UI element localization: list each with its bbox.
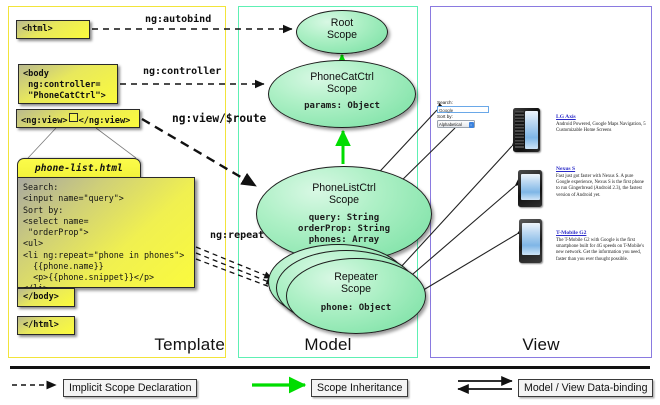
code-box-body-close: </body> (17, 288, 75, 307)
note-title: phone-list.html (17, 158, 141, 179)
ng-view-close-tag: </ng:view> (79, 116, 131, 126)
phone-link[interactable]: T-Mobile G2 (556, 229, 648, 237)
legend-label-scope-inheritance: Scope Inheritance (311, 379, 408, 397)
phone-image-t-mobile-g2 (519, 219, 542, 263)
code-box-ng-view: <ng:view></ng:view> (16, 109, 140, 128)
architecture-diagram: Template Model View (0, 0, 660, 405)
scope-repeater: Repeater Scope phone: Object (286, 258, 426, 334)
phone-keyboard (515, 111, 524, 149)
note-leader-right (96, 128, 136, 158)
list-item: T-Mobile G2 The T-Mobile G2 with Google … (556, 229, 648, 263)
code-box-html-close: </html> (17, 316, 75, 335)
phone-image-nexus-s (518, 170, 542, 207)
ng-view-placeholder-icon (69, 113, 78, 122)
scope-root-line2: Scope (297, 30, 387, 42)
code-box-html-open: <html> (16, 20, 90, 39)
phone-image-lg-axis (513, 108, 540, 152)
edge-ng-repeat-3 (196, 259, 278, 290)
phone-screen (521, 174, 540, 200)
chevron-updown-icon: ↕ (469, 122, 474, 128)
legend-label-implicit-scope-declaration: Implicit Scope Declaration (63, 379, 197, 397)
phone-snippet: Fast just got faster with Nexus S. A pur… (556, 174, 648, 199)
phone-screen (522, 223, 540, 255)
phone-screen (525, 111, 538, 149)
ng-view-open-tag: <ng:view> (21, 116, 68, 126)
scope-repeater-props: phone: Object (287, 303, 425, 314)
scope-phonecatctrl-props: params: Object (269, 101, 415, 112)
list-item: LG Axis Android Powered, Google Maps Nav… (556, 113, 648, 134)
note-leader-left (28, 128, 56, 158)
scope-phonecatctrl: PhoneCatCtrl Scope params: Object (268, 60, 416, 128)
scope-root: Root Scope (296, 10, 388, 54)
label-ng-autobind: ng:autobind (145, 14, 211, 25)
edge-bind-phone-3 (420, 234, 517, 292)
search-input[interactable]: Google (437, 106, 489, 113)
label-ng-controller: ng:controller (143, 66, 221, 77)
scope-repeater-line2: Scope (287, 284, 425, 296)
view-search-widget: Search: Google Sort by: Alphabetical ↕ (437, 100, 495, 128)
phone-link[interactable]: LG Axis (556, 113, 648, 121)
list-item: Nexus S Fast just got faster with Nexus … (556, 165, 648, 199)
sort-select[interactable]: Alphabetical ↕ (437, 120, 475, 128)
scope-phonelistctrl-line2: Scope (257, 195, 431, 207)
scope-phonecatctrl-line2: Scope (269, 84, 415, 96)
template-note-phone-list: phone-list.html Search: <input name="que… (17, 158, 195, 288)
sort-select-value: Alphabetical (439, 122, 462, 127)
phone-snippet: The T-Mobile G2 with Google is the first… (556, 238, 648, 263)
label-ng-view-route: ng:view/$route (172, 112, 266, 125)
code-box-body-open: <body ng:controller= "PhoneCatCtrl"> (18, 64, 118, 104)
phone-snippet: Android Powered, Google Maps Navigation,… (556, 122, 648, 134)
scope-phonelistctrl-props: query: String orderProp: String phones: … (257, 213, 431, 246)
scope-repeater-stack: Repeater Scope phone: Object (268, 244, 428, 340)
legend-label-model-view-data-binding: Model / View Data-binding (518, 379, 653, 397)
phone-link[interactable]: Nexus S (556, 165, 648, 173)
edge-ng-repeat-2 (196, 253, 274, 284)
note-code: Search: <input name="query"> Sort by: <s… (17, 177, 195, 288)
